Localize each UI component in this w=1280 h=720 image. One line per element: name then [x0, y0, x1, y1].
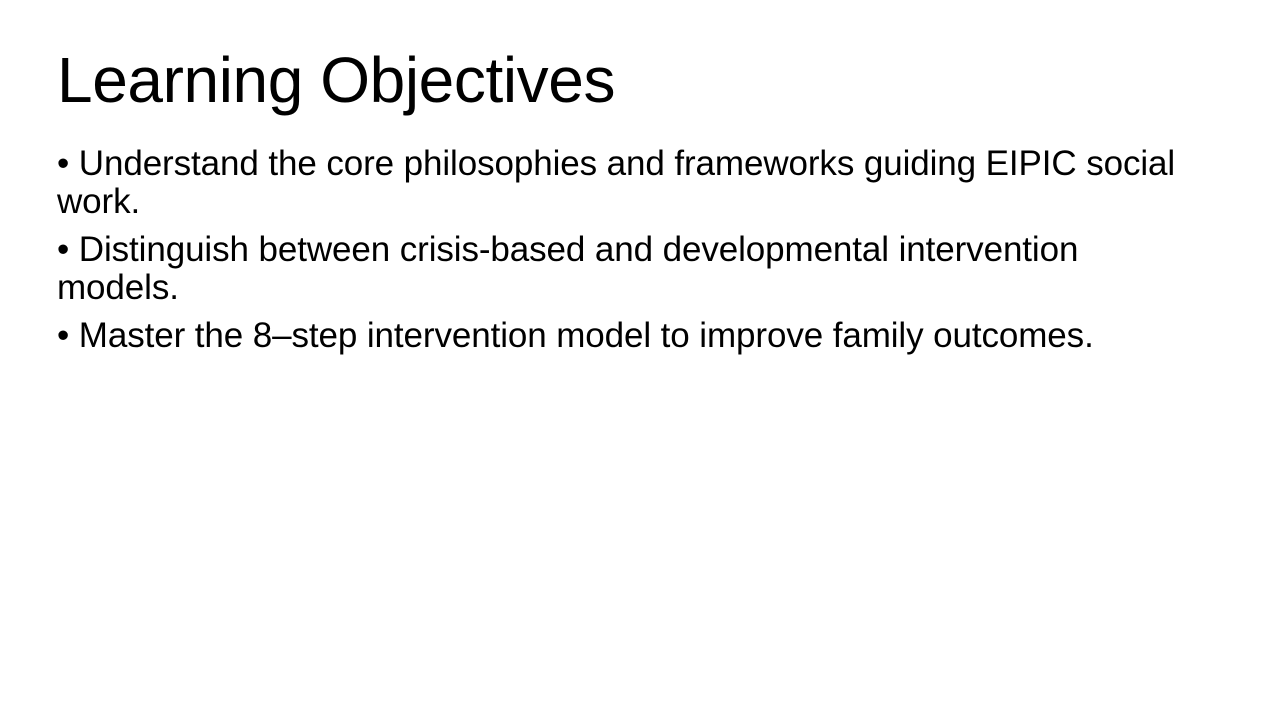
bullet-list-item: • Master the 8–step intervention model t…	[57, 317, 1209, 355]
bullet-list-item: • Distinguish between crisis-based and d…	[57, 231, 1209, 307]
slide-title: Learning Objectives	[57, 46, 1217, 115]
bullet-list-item-text: Distinguish between crisis-based and dev…	[57, 230, 1078, 307]
bullet-list-item: • Understand the core philosophies and f…	[57, 145, 1209, 221]
bullet-point-icon: •	[57, 230, 69, 269]
slide-body-bullet-list: • Understand the core philosophies and f…	[57, 145, 1209, 355]
bullet-list-item-text: Understand the core philosophies and fra…	[57, 144, 1175, 221]
bullet-point-icon: •	[57, 144, 69, 183]
bullet-point-icon: •	[57, 316, 69, 355]
presentation-slide: Learning Objectives • Understand the cor…	[0, 0, 1280, 720]
bullet-list-item-text: Master the 8–step intervention model to …	[79, 316, 1094, 355]
